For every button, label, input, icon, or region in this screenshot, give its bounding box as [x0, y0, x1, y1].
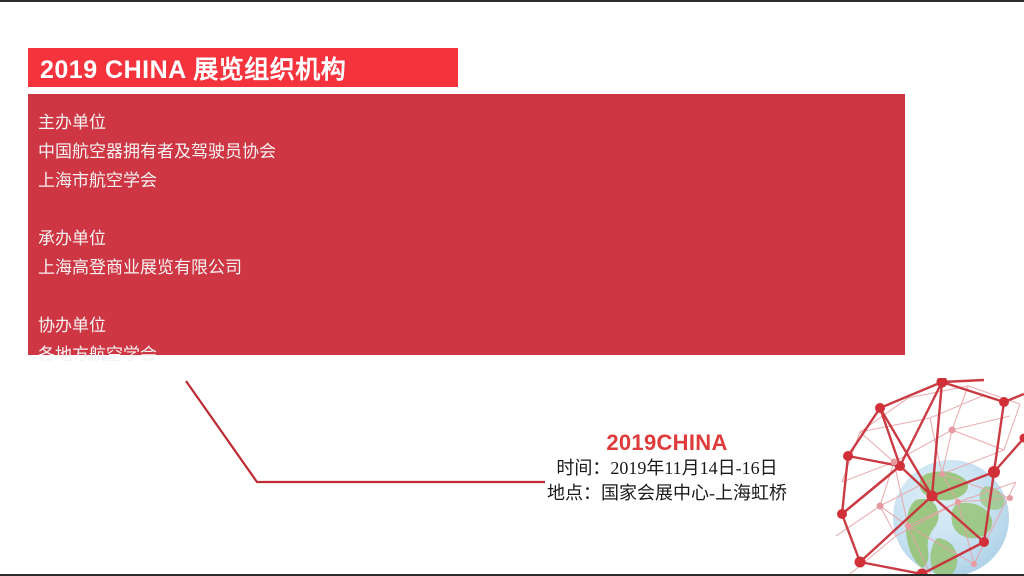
- organizers-panel: 主办单位 中国航空器拥有者及驾驶员协会 上海市航空学会 承办单位 上海高登商业展…: [28, 94, 905, 355]
- network-globe-graphic: [834, 378, 1024, 574]
- event-venue-label: 地点：国家会展中心-上海虹桥: [512, 481, 822, 506]
- slide-canvas: 2019 CHINA 展览组织机构 主办单位 中国航空器拥有者及驾驶员协会 上海…: [0, 0, 1024, 576]
- event-date-label: 时间：2019年11月14日-16日: [512, 456, 822, 481]
- page-title: 2019 CHINA 展览组织机构: [40, 50, 346, 86]
- organizers-text: 主办单位 中国航空器拥有者及驾驶员协会 上海市航空学会 承办单位 上海高登商业展…: [38, 108, 276, 369]
- event-info-block: 2019CHINA 时间：2019年11月14日-16日 地点：国家会展中心-上…: [512, 430, 822, 506]
- section-title-bar: 2019 CHINA 展览组织机构: [28, 48, 458, 87]
- event-brand-label: 2019CHINA: [512, 430, 822, 456]
